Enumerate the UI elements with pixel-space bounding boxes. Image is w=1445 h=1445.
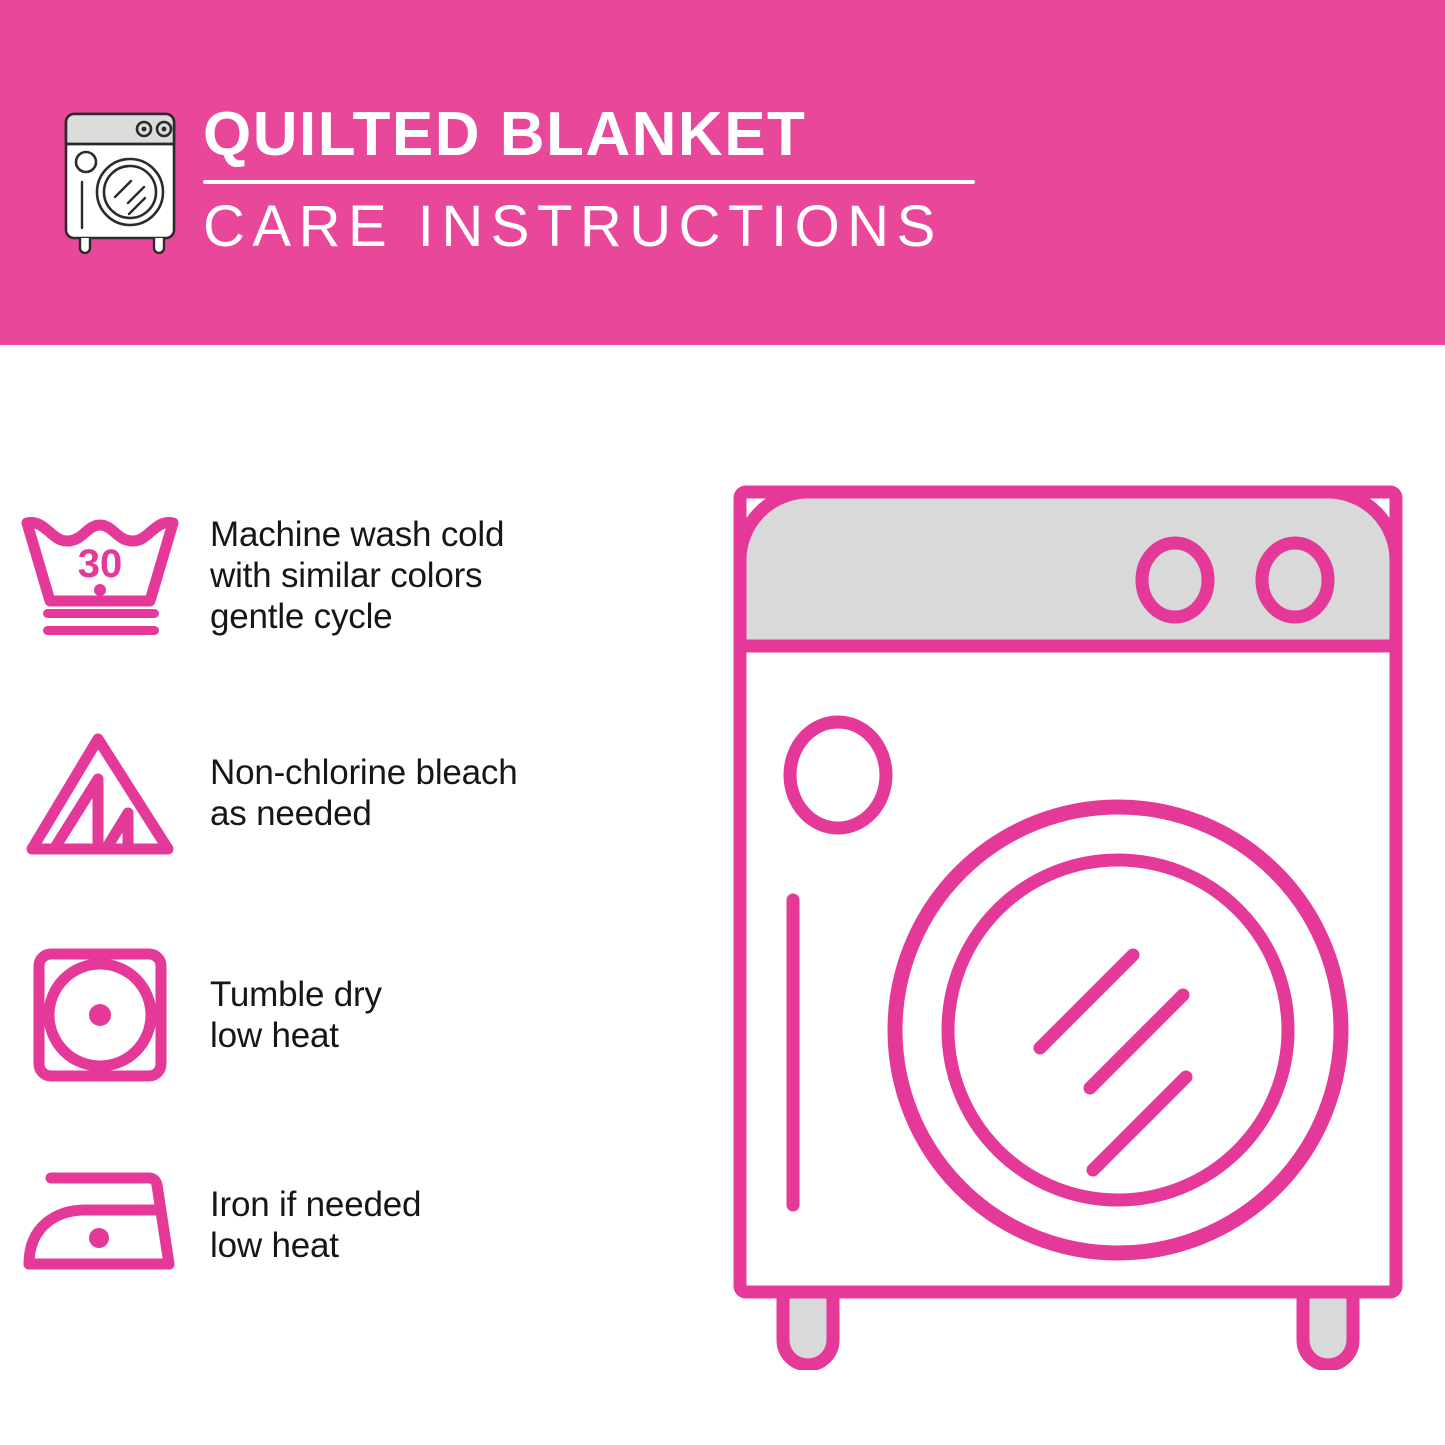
iron-low-heat-icon	[0, 1135, 200, 1315]
non-chlorine-bleach-triangle-icon	[0, 703, 200, 883]
knob-right	[1262, 543, 1328, 617]
care-item-line2: low heat	[210, 1015, 382, 1056]
tumble-dry-low-icon	[0, 925, 200, 1105]
care-item-label: Iron if needed low heat	[200, 1184, 421, 1266]
care-item-line2: with similar colors	[210, 555, 504, 596]
care-item-machine-wash: 30 Machine wash cold with similar colors…	[0, 485, 700, 665]
header-title-group: QUILTED BLANKET CARE INSTRUCTIONS	[203, 98, 993, 260]
care-item-tumble-dry: Tumble dry low heat	[0, 925, 700, 1105]
care-item-line2: low heat	[210, 1225, 421, 1266]
title-divider	[203, 180, 975, 184]
header-banner: QUILTED BLANKET CARE INSTRUCTIONS	[0, 0, 1445, 345]
care-item-label: Machine wash cold with similar colors ge…	[200, 514, 504, 637]
care-item-line2: as needed	[210, 793, 518, 834]
care-item-line1: Machine wash cold	[210, 514, 504, 555]
care-item-label: Tumble dry low heat	[200, 974, 382, 1056]
leg-right	[1303, 1292, 1353, 1365]
care-instruction-list: 30 Machine wash cold with similar colors…	[0, 345, 700, 1445]
care-item-iron: Iron if needed low heat	[0, 1135, 700, 1315]
care-item-line1: Non-chlorine bleach	[210, 752, 518, 793]
leg-left	[783, 1292, 833, 1365]
wash-tub-30-icon: 30	[0, 485, 200, 665]
care-item-line1: Tumble dry	[210, 974, 382, 1015]
washing-machine-icon	[58, 102, 190, 254]
knob-left	[1142, 543, 1208, 617]
wash-temperature-value: 30	[78, 542, 123, 586]
page-title: QUILTED BLANKET	[203, 98, 993, 172]
front-load-washing-machine-illustration	[718, 470, 1418, 1370]
care-item-line1: Iron if needed	[210, 1184, 421, 1225]
page-subtitle: CARE INSTRUCTIONS	[203, 194, 993, 260]
dispenser-circle	[790, 722, 886, 828]
care-item-line3: gentle cycle	[210, 596, 504, 637]
care-item-label: Non-chlorine bleach as needed	[200, 752, 518, 834]
care-item-bleach: Non-chlorine bleach as needed	[0, 703, 700, 883]
